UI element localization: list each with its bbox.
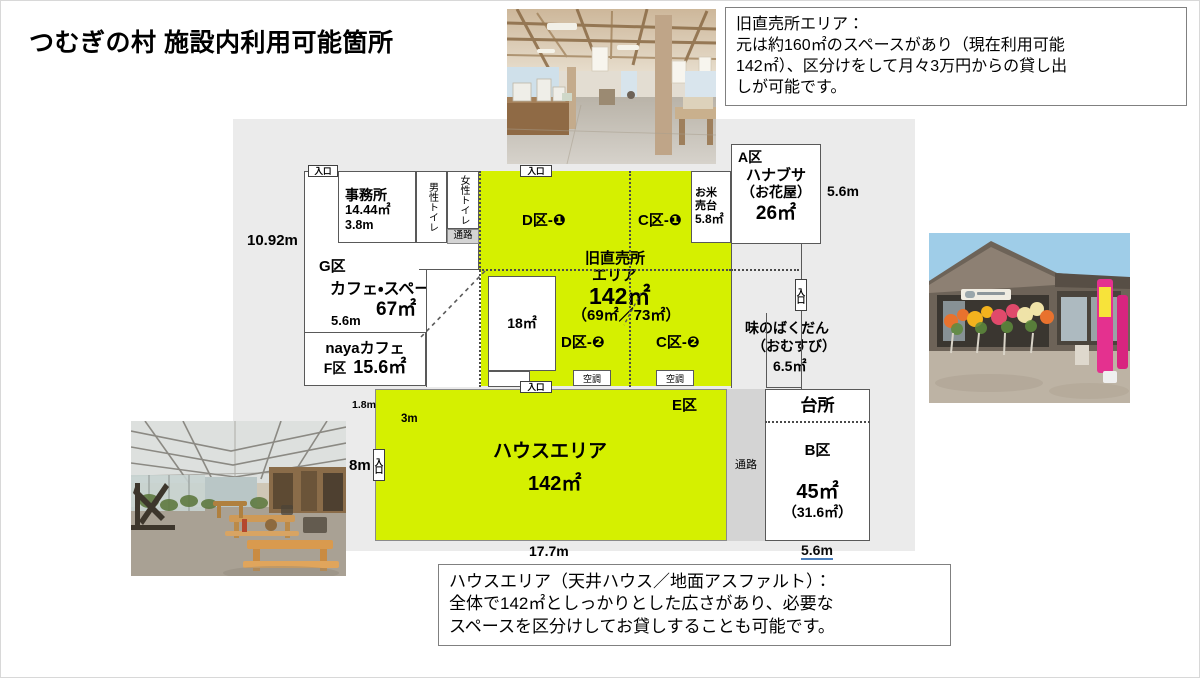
room-rice-stand: お米 売台 5.8㎡: [691, 171, 731, 243]
page-title: つむぎの村 施設内利用可能箇所: [29, 23, 393, 59]
room-toilet-male: 男性トイレ: [416, 171, 447, 243]
zone-e-label: E区: [672, 398, 697, 415]
room-18sqm: 18㎡: [488, 276, 556, 371]
dim-house-bottom: 17.7m: [529, 543, 569, 559]
note-house-line3: スペースを区分けしてお貸しすることも可能です。: [449, 616, 942, 638]
rice-stand-name-2: 売台: [695, 200, 717, 213]
zone-b-area: 45㎡: [796, 481, 838, 504]
slide-canvas: つむぎの村 施設内利用可能箇所 事務所 14.44㎡ 3.8m 男性トイレ 女性…: [0, 0, 1200, 678]
dim-bottom-right-value: 5.6m: [801, 542, 833, 560]
naya-cafe-name: nayaカフェ: [325, 340, 404, 357]
cafe-space-width: 5.6m: [331, 314, 361, 329]
old-shop-split-slash: [621, 291, 645, 327]
dim-left-total: 10.92m: [247, 232, 298, 249]
note-old-shop-area: 旧直売所エリア： 元は約160㎡のスペースがあり（現在利用可能 142㎡）、区分…: [725, 7, 1187, 106]
rice-stand-name-1: お米: [695, 187, 717, 200]
dim-house-18m: 1.8m: [352, 399, 376, 411]
entrance-chip-right[interactable]: 入口: [795, 279, 807, 311]
note-old-shop-line1: 元は約160㎡のスペースがあり（現在利用可能: [736, 35, 1178, 56]
note-house-line1: ハウスエリア（天井ハウス／地面アスファルト）：: [449, 571, 942, 593]
old-shop-center-dotted: [629, 171, 631, 387]
room-18sqm-area: 18㎡: [507, 315, 537, 331]
naya-cafe-area: 15.6㎡: [353, 357, 406, 378]
green-zone-d1: D区-❶: [522, 213, 566, 230]
kitchen-zone-b-divider: [765, 421, 870, 423]
old-shop-name-line1: 旧直売所: [585, 251, 645, 268]
green-zone-d2: D区-❷: [561, 335, 605, 352]
entrance-chip-office[interactable]: 入口: [308, 165, 338, 177]
hanabusa-name: ハナブサ: [746, 167, 806, 184]
naya-cafe-zone: F区: [324, 360, 347, 376]
room-office-area: 14.44㎡: [345, 203, 391, 218]
hvac-chip-right: 空調: [656, 370, 694, 386]
dim-house-left-8m: 8m: [349, 457, 371, 474]
entrance-chip-green-top[interactable]: 入口: [520, 165, 552, 177]
note-old-shop-line3: しが可能です。: [736, 77, 1178, 98]
hanabusa-zone: A区: [732, 149, 762, 165]
hanabusa-area: 26㎡: [756, 203, 796, 225]
zone-b-area-sub: （31.6㎡）: [783, 504, 852, 520]
room-toilet-female: 女性トイレ: [447, 171, 479, 229]
room-office-name: 事務所: [345, 187, 387, 203]
corridor-top-label: 通路: [453, 231, 472, 242]
corridor-top: 通路: [447, 229, 479, 244]
note-old-shop-line2: 142㎡）、区分けをして月々3万円からの貸し出: [736, 56, 1178, 77]
green-zone-c2: C区-❷: [656, 335, 700, 352]
room-toilet-male-label: 男性トイレ: [427, 182, 437, 232]
room-kitchen-and-zone-b: 台所 B区 45㎡ （31.6㎡）: [765, 389, 870, 541]
note-house-area: ハウスエリア（天井ハウス／地面アスファルト）： 全体で142㎡としっかりとした広…: [438, 564, 951, 646]
kitchen-label: 台所: [801, 396, 835, 416]
photo-flower-shop-exterior: [929, 233, 1130, 403]
cafe-space-area: 67㎡: [376, 299, 416, 320]
corridor-right: 通路: [727, 389, 765, 541]
photo-greenhouse-tables: [131, 421, 346, 576]
dim-bottom-right: 5.6m: [801, 542, 833, 558]
wall-right-upper: [801, 244, 802, 389]
note-old-shop-heading: 旧直売所エリア：: [736, 14, 1178, 35]
room-office: 事務所 14.44㎡ 3.8m: [338, 171, 416, 243]
hvac-chip-left: 空調: [573, 370, 611, 386]
dim-house-3m: 3m: [401, 413, 418, 425]
dim-right-top: 5.6m: [827, 183, 859, 199]
green-zone-c1: C区-❶: [638, 213, 682, 230]
old-shop-left-dotted: [479, 171, 481, 387]
house-area-area: 142㎡: [528, 473, 581, 495]
old-shop-right-dotted: [731, 269, 799, 271]
house-area-name: ハウスエリア: [493, 441, 607, 462]
entrance-chip-house-left[interactable]: 入口: [373, 449, 385, 481]
room-office-width: 3.8m: [345, 218, 374, 232]
zone-b-label: B区: [805, 442, 831, 459]
room-toilet-female-label: 女性トイレ: [458, 175, 468, 225]
rice-stand-area: 5.8㎡: [695, 213, 724, 227]
zone-g-label: G区: [319, 259, 346, 276]
entrance-chip-green-bottom[interactable]: 入口: [520, 381, 552, 393]
wall-right-lower-seg: [731, 244, 732, 388]
corridor-right-label: 通路: [735, 459, 757, 472]
old-shop-mid-dotted: [479, 269, 731, 271]
room-hanabusa: A区 ハナブサ （お花屋） 26㎡: [731, 144, 821, 244]
room-naya-cafe: nayaカフェ F区 15.6㎡: [304, 332, 426, 386]
photo-market-hall-interior: [507, 9, 716, 164]
note-house-line2: 全体で142㎡としっかりとした広さがあり、必要な: [449, 593, 942, 615]
hanabusa-sub: （お花屋）: [741, 184, 811, 200]
bakudan-box: [766, 313, 802, 388]
